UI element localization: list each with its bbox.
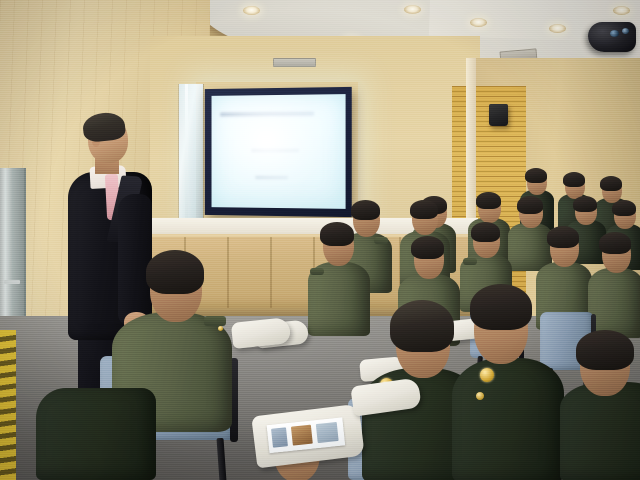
wall-air-vent xyxy=(273,58,316,67)
hair xyxy=(470,284,532,330)
hair xyxy=(146,250,204,294)
uniform-trousers xyxy=(36,388,156,480)
shoulder-epaulet xyxy=(204,316,226,326)
hair xyxy=(410,200,438,219)
slide-footer-line xyxy=(255,176,288,179)
hair xyxy=(600,176,622,191)
uniform-button xyxy=(476,392,484,400)
shoulder-epaulet xyxy=(463,258,477,265)
hair xyxy=(525,168,547,183)
hair xyxy=(576,330,634,370)
hair xyxy=(320,222,354,246)
hair xyxy=(476,192,501,209)
audience-member-legs xyxy=(36,388,156,480)
downlight-icon xyxy=(549,24,566,33)
wall-speaker-icon xyxy=(489,104,508,126)
hair xyxy=(599,232,631,254)
handout-brochure[interactable] xyxy=(267,417,346,453)
projector-lens-secondary-icon xyxy=(622,28,629,34)
projection-screen-surface xyxy=(212,94,346,209)
handout-photo xyxy=(271,427,288,447)
slide-subtitle-line xyxy=(251,149,299,152)
audience-member xyxy=(560,330,640,480)
uniform-torso xyxy=(560,382,640,480)
shoulder-epaulet xyxy=(374,237,388,244)
audience-member xyxy=(308,222,370,330)
door-hinge-icon xyxy=(4,280,20,284)
hazard-floor-strip xyxy=(0,330,16,480)
audience-member xyxy=(452,284,564,480)
hair xyxy=(563,172,585,187)
hair xyxy=(471,222,500,242)
shoulder-insignia-badge xyxy=(480,368,494,382)
handout-photo xyxy=(291,425,313,446)
ceiling-mounted-projector xyxy=(588,22,636,52)
hair xyxy=(390,300,454,352)
window-mullion xyxy=(185,84,188,218)
uniform-torso xyxy=(452,358,564,480)
handout-photo xyxy=(316,422,339,443)
downlight-icon xyxy=(613,6,630,15)
lecture-hall-photo: Military briefing in a lecture hall xyxy=(0,0,640,480)
downlight-icon xyxy=(243,6,260,15)
uniform-button xyxy=(218,326,223,331)
projection-screen xyxy=(205,87,352,217)
slide-title-line xyxy=(221,112,314,117)
hair xyxy=(612,200,636,216)
hair xyxy=(351,200,380,220)
projector-lens-icon xyxy=(610,30,619,37)
hair xyxy=(573,196,597,212)
downlight-icon xyxy=(470,18,487,27)
downlight-icon xyxy=(404,5,421,14)
hair xyxy=(411,236,444,259)
hair xyxy=(547,226,579,248)
shoulder-epaulet xyxy=(310,268,324,275)
hair xyxy=(517,196,543,214)
glass-side-panel xyxy=(178,84,204,218)
